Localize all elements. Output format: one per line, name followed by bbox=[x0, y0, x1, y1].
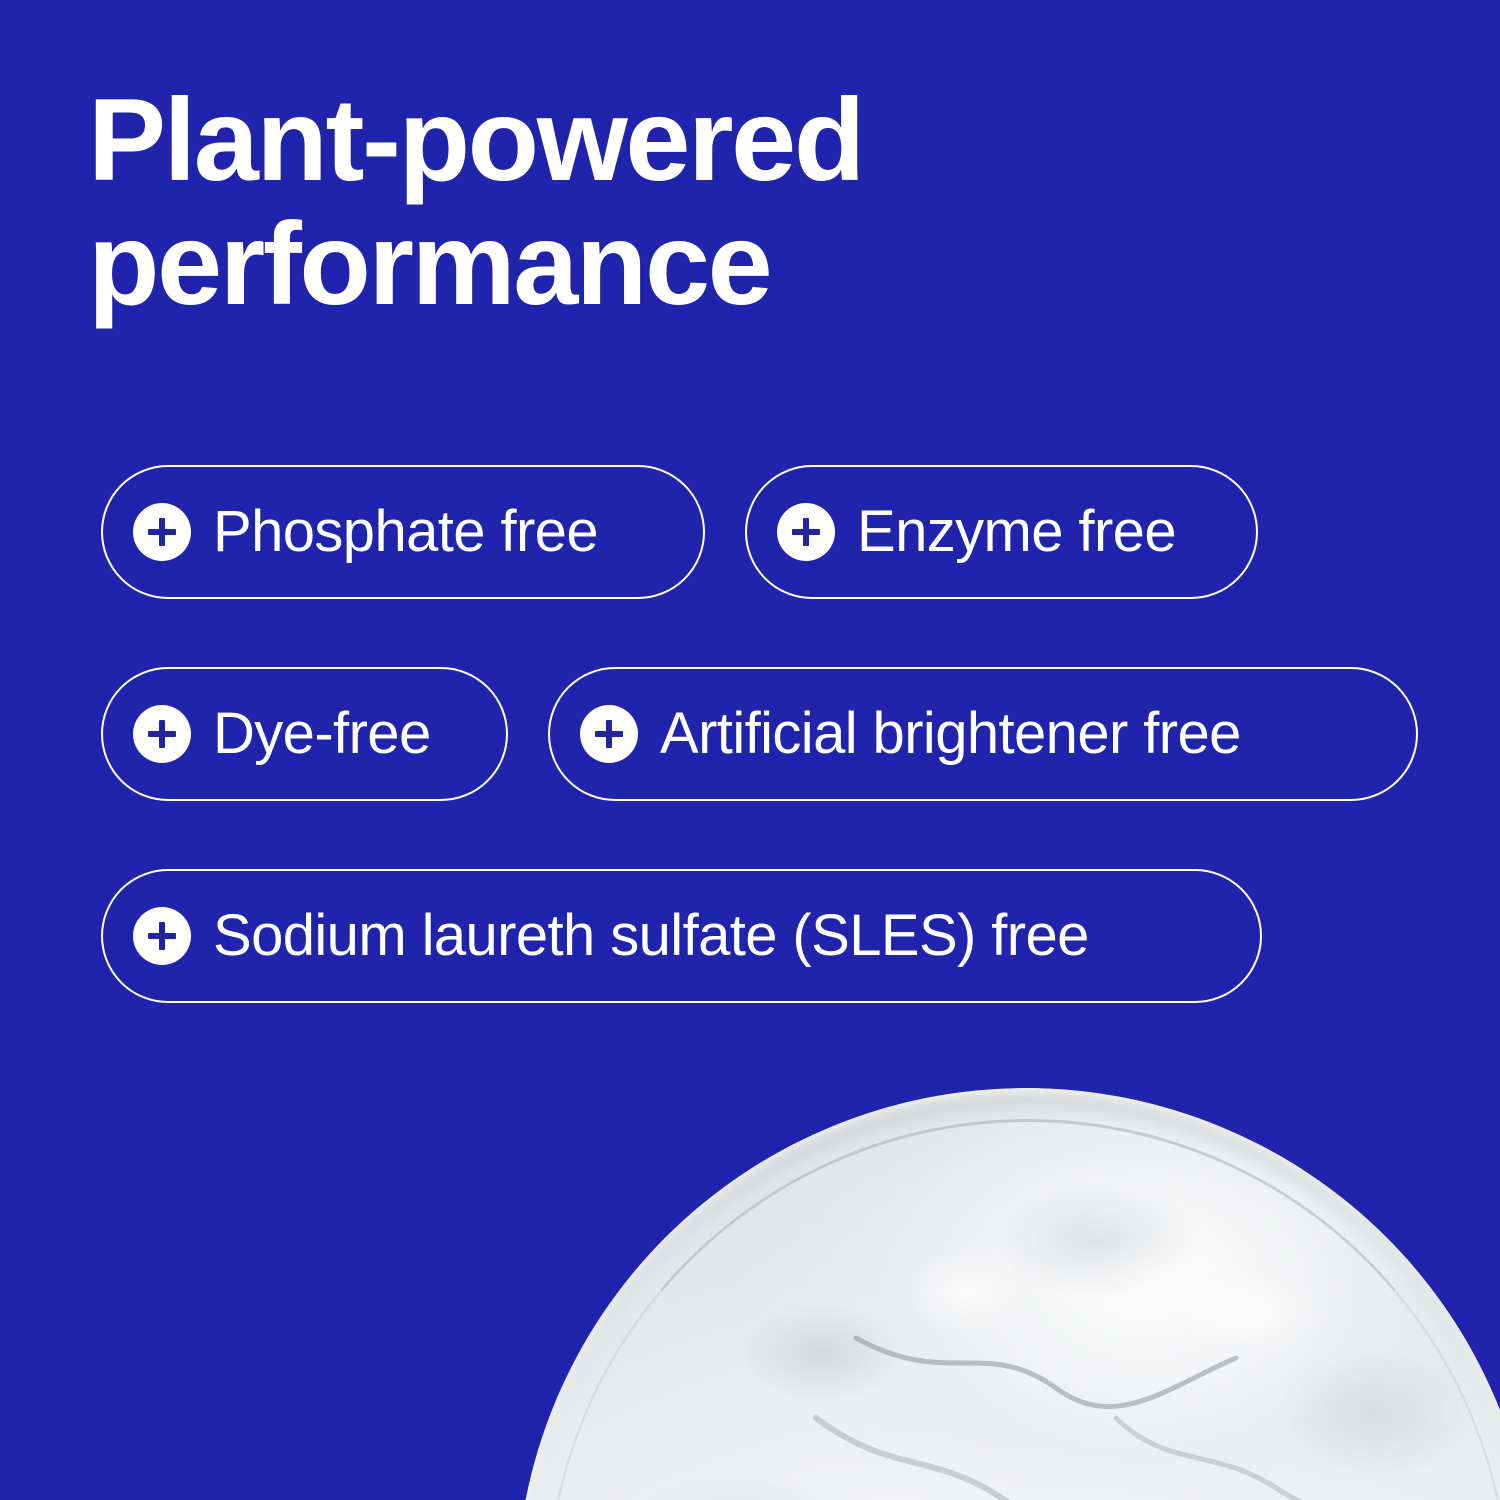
claim-pill-dye-free[interactable]: Dye-free bbox=[101, 667, 508, 801]
claim-pill-label: Artificial brightener free bbox=[660, 703, 1241, 765]
claim-pill-label: Enzyme free bbox=[857, 501, 1176, 563]
claim-pill-phosphate-free[interactable]: Phosphate free bbox=[101, 465, 705, 599]
claim-pill-label: Sodium laureth sulfate (SLES) free bbox=[213, 905, 1089, 967]
plus-icon bbox=[133, 907, 191, 965]
claim-pill-sles-free[interactable]: Sodium laureth sulfate (SLES) free bbox=[101, 869, 1262, 1003]
claim-pill-label: Dye-free bbox=[213, 703, 431, 765]
claim-pill-enzyme-free[interactable]: Enzyme free bbox=[745, 465, 1258, 599]
plus-icon bbox=[777, 503, 835, 561]
promo-panel: Plant-powered performance Phosphate free… bbox=[0, 0, 1500, 1500]
claim-pill-artificial-brightener-free[interactable]: Artificial brightener free bbox=[548, 667, 1418, 801]
white-powder-bowl-photo bbox=[516, 1088, 1500, 1500]
plus-icon bbox=[133, 503, 191, 561]
plus-icon bbox=[580, 705, 638, 763]
page-title: Plant-powered performance bbox=[88, 78, 1088, 326]
plus-icon bbox=[133, 705, 191, 763]
claim-pill-label: Phosphate free bbox=[213, 501, 598, 563]
